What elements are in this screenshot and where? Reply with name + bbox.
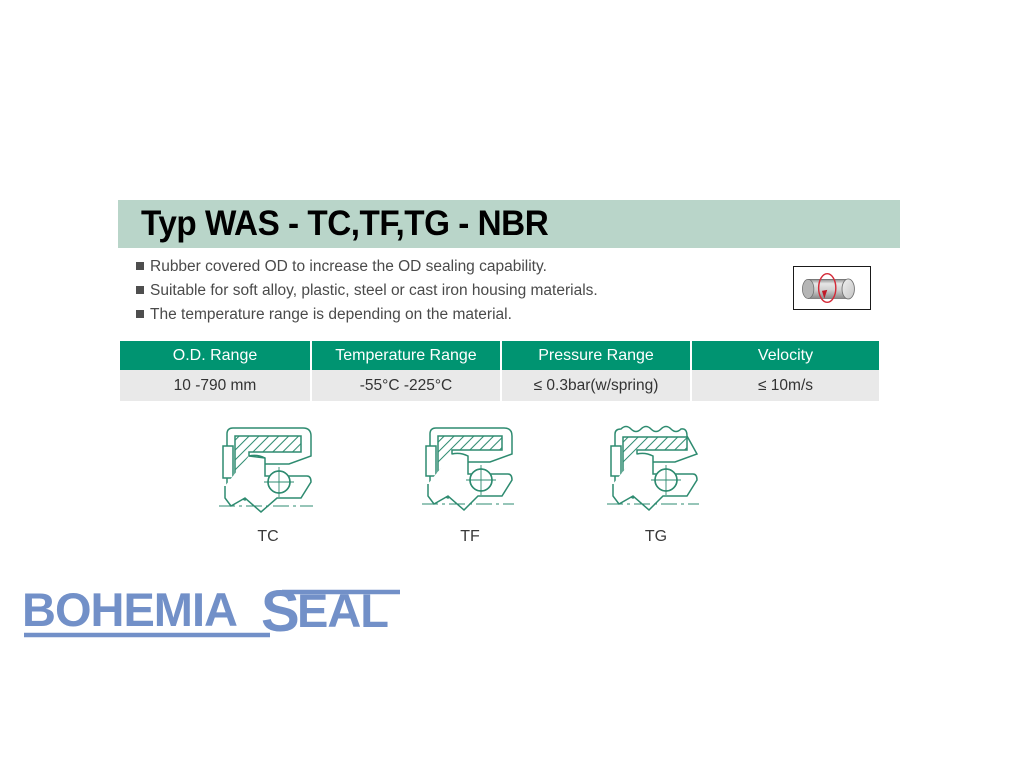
- seal-label-tc: TC: [228, 528, 308, 546]
- seal-cross-section-tg: [595, 420, 710, 525]
- rotating-shaft-graphic: [794, 267, 870, 309]
- page-title: Typ WAS - TC,TF,TG - NBR: [141, 204, 548, 244]
- feature-list: Rubber covered OD to increase the OD sea…: [136, 256, 756, 328]
- specification-table: O.D. Range Temperature Range Pressure Ra…: [118, 341, 881, 401]
- column-header-od-range: O.D. Range: [120, 341, 310, 370]
- column-header-temp-range: Temperature Range: [312, 341, 500, 370]
- cell-velocity: ≤ 10m/s: [692, 370, 879, 401]
- square-bullet-icon: [136, 310, 144, 318]
- title-band: Typ WAS - TC,TF,TG - NBR: [118, 200, 900, 248]
- column-header-pressure-range: Pressure Range: [502, 341, 690, 370]
- logo-text-bohemia: BOHEMIA: [22, 583, 237, 636]
- table-row: 10 -790 mm -55°C -225°C ≤ 0.3bar(w/sprin…: [120, 370, 879, 401]
- feature-text: The temperature range is depending on th…: [150, 304, 512, 325]
- square-bullet-icon: [136, 262, 144, 270]
- cell-od-range: 10 -790 mm: [120, 370, 310, 401]
- list-item: The temperature range is depending on th…: [136, 304, 756, 326]
- cell-pressure-range: ≤ 0.3bar(w/spring): [502, 370, 690, 401]
- bohemia-seal-logo: BOHEMIA S EAL: [14, 578, 414, 648]
- seal-cross-section-tf: [410, 420, 525, 525]
- rotating-shaft-icon: [793, 266, 871, 310]
- list-item: Rubber covered OD to increase the OD sea…: [136, 256, 756, 278]
- feature-text: Suitable for soft alloy, plastic, steel …: [150, 280, 598, 301]
- seal-label-tg: TG: [616, 528, 696, 546]
- feature-text: Rubber covered OD to increase the OD sea…: [150, 256, 547, 277]
- seal-label-tf: TF: [430, 528, 510, 546]
- square-bullet-icon: [136, 286, 144, 294]
- cell-temp-range: -55°C -225°C: [312, 370, 500, 401]
- table-header-row: O.D. Range Temperature Range Pressure Ra…: [120, 341, 879, 370]
- list-item: Suitable for soft alloy, plastic, steel …: [136, 280, 756, 302]
- seal-cross-section-tc: [205, 420, 325, 525]
- column-header-velocity: Velocity: [692, 341, 879, 370]
